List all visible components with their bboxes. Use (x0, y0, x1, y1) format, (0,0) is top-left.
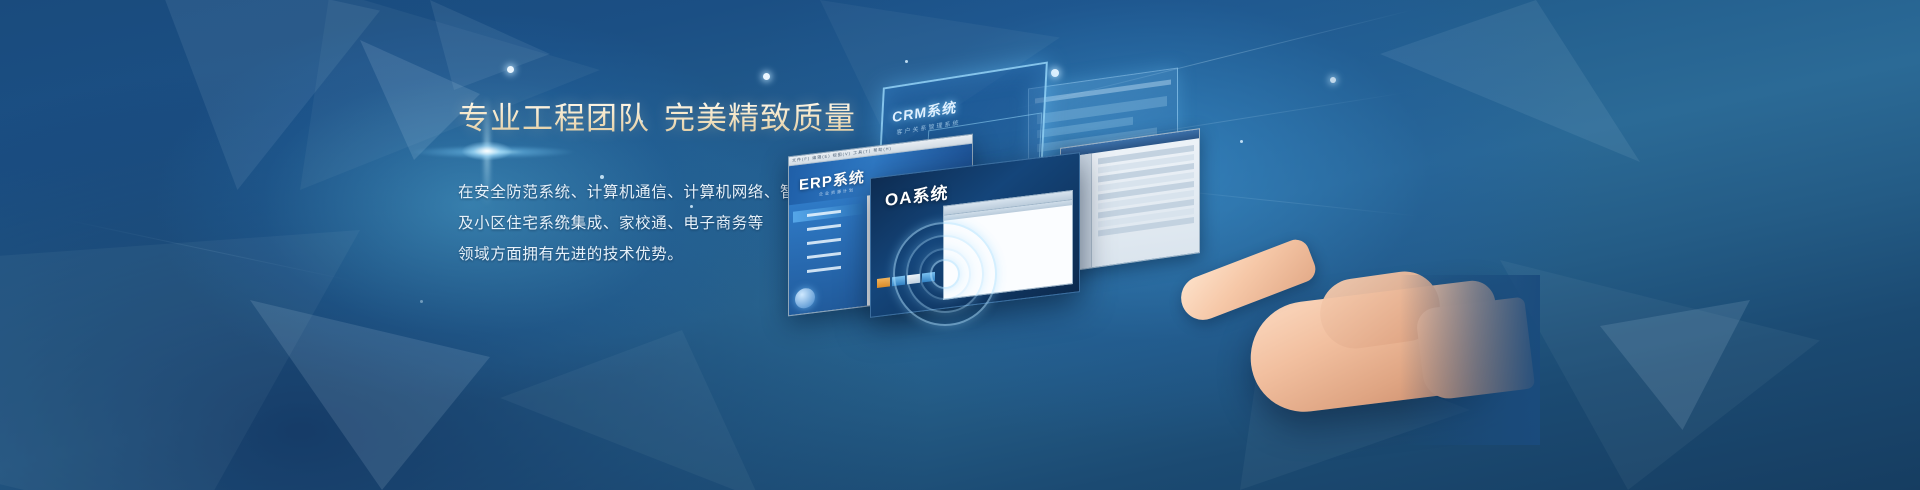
touch-ripple-ring (930, 259, 960, 289)
headline-part-1: 专业工程团队 (458, 101, 650, 136)
folder-icon (795, 226, 804, 235)
sparkle-dot (1240, 140, 1243, 143)
pointing-hand (1170, 245, 1500, 445)
taskbar-item[interactable] (877, 277, 890, 288)
erp-nav-label (807, 238, 841, 245)
hero-banner: 专业工程团队完美精致质量 在安全防范系统、计算机通信、计算机网络、智能大厦 及小… (0, 0, 1920, 490)
sparkle-dot (763, 73, 770, 80)
decorative-polygon (500, 330, 760, 490)
erp-nav-label (807, 210, 841, 217)
sparkle-dot (420, 300, 423, 303)
folder-icon (795, 240, 804, 249)
erp-nav-label (807, 252, 841, 259)
folder-icon (795, 268, 804, 277)
decorative-polygon (1380, 0, 1640, 180)
decorative-polygon (250, 300, 490, 490)
sparkle-dot (507, 66, 514, 73)
folder-icon (795, 212, 804, 221)
oa-title: OA系统 (885, 178, 949, 211)
erp-nav-label (807, 266, 841, 273)
hand-fade-overlay (1400, 275, 1540, 445)
sparkle-dot (1330, 77, 1336, 83)
folder-icon (795, 254, 804, 263)
erp-nav-label (807, 224, 841, 231)
